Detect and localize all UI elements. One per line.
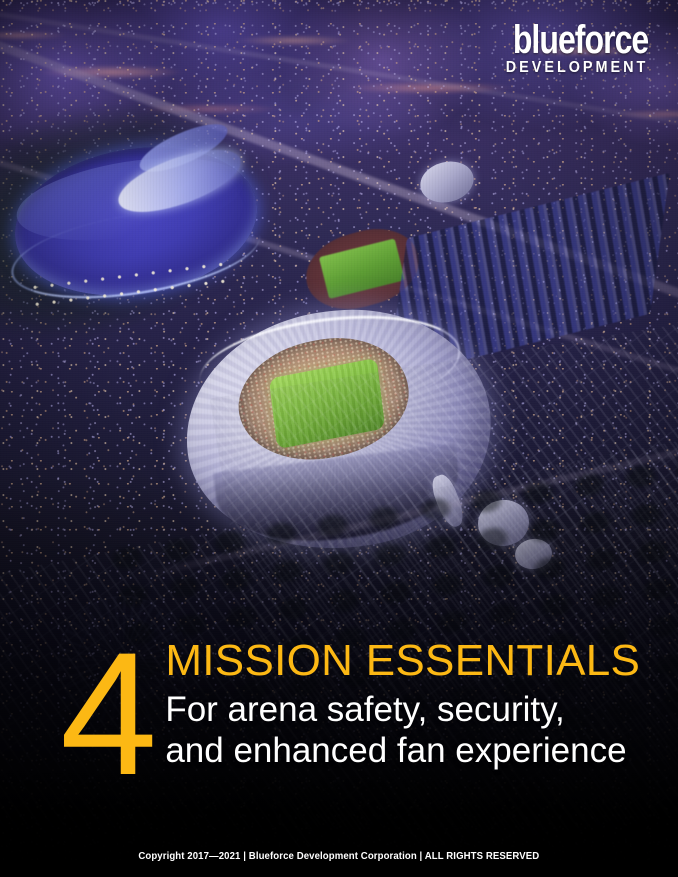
logo-wordmark: blueforce [513,22,648,59]
blueforce-logo: blueforce DEVELOPMENT [479,22,648,75]
subtitle-line-1: For arena safety, security, [165,689,654,730]
headline-numeral: 4 [60,645,151,785]
page-subtitle: For arena safety, security, and enhanced… [165,689,654,772]
footer: Copyright 2017—2021 | Blueforce Developm… [0,846,678,864]
page-title: MISSION ESSENTIALS [165,639,654,684]
cover-page: blueforce DEVELOPMENT 4 MISSION ESSENTIA… [0,0,678,877]
logo-subtitle: DEVELOPMENT [491,60,648,76]
headline-block: 4 MISSION ESSENTIALS For arena safety, s… [60,635,654,785]
copyright-notice: Copyright 2017—2021 | Blueforce Developm… [139,851,540,862]
headline-text-group: MISSION ESSENTIALS For arena safety, sec… [165,635,654,771]
subtitle-line-2: and enhanced fan experience [165,730,654,771]
